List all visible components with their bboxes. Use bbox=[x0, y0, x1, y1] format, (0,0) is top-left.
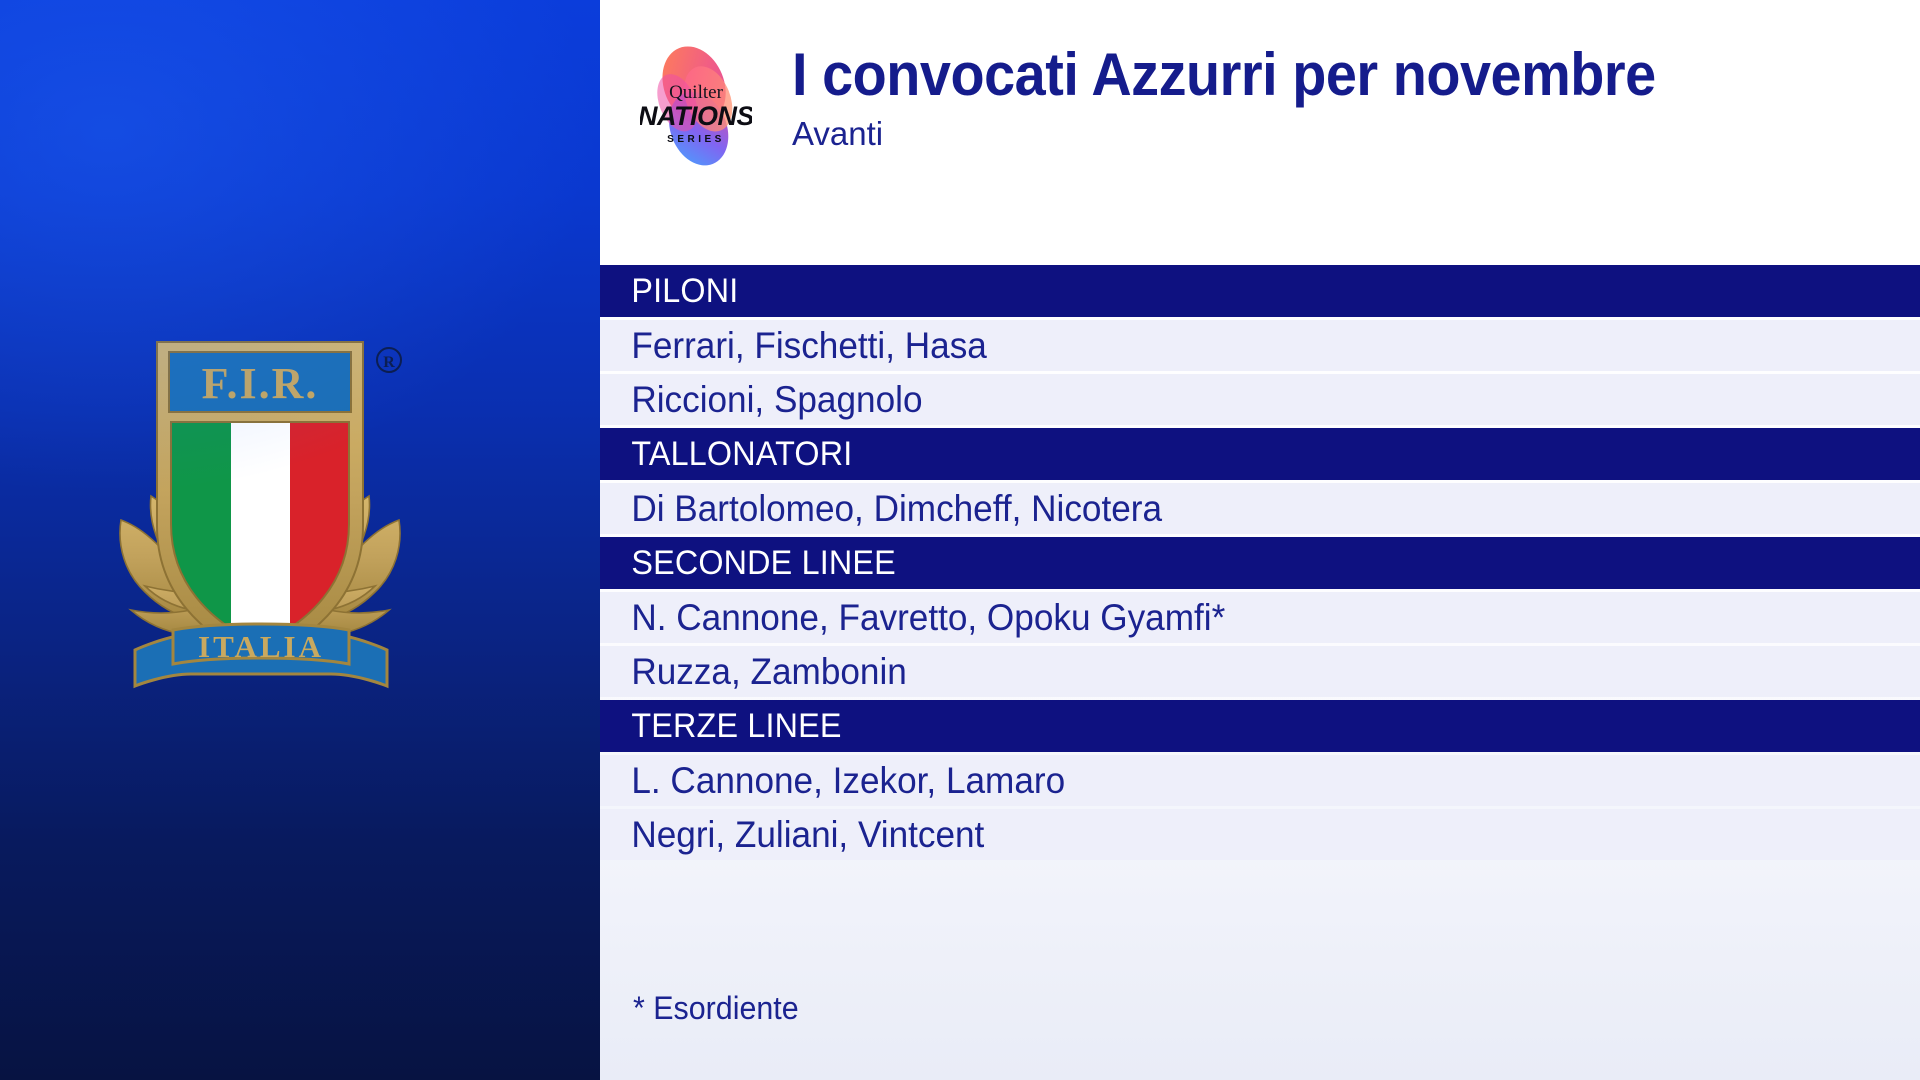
footnote-debutant: * Esordiente bbox=[633, 990, 799, 1026]
fir-italia-crest: F.I.R. ITALIA R bbox=[95, 330, 425, 710]
logo-nations-text: NATIONS bbox=[640, 101, 752, 131]
player-list-row: N. Cannone, Favretto, Opoku Gyamfi* bbox=[600, 592, 1920, 643]
position-group-label: TALLONATORI bbox=[600, 435, 852, 473]
page-subtitle: Avanti bbox=[792, 114, 1892, 154]
squad-table: PILONIFerrari, Fischetti, HasaRiccioni, … bbox=[600, 265, 1920, 863]
registered-trademark-icon: R bbox=[377, 348, 401, 372]
logo-series-text: SERIES bbox=[667, 134, 725, 145]
header: Quilter NATIONS SERIES I convocati Azzur… bbox=[600, 0, 1920, 265]
player-names: N. Cannone, Favretto, Opoku Gyamfi* bbox=[600, 597, 1225, 639]
quilter-nations-logo-icon: Quilter NATIONS SERIES bbox=[640, 42, 752, 170]
left-brand-panel: F.I.R. ITALIA R bbox=[0, 0, 600, 1080]
position-group-label: SECONDE LINEE bbox=[600, 544, 896, 582]
page-title: I convocati Azzurri per novembre bbox=[792, 42, 1815, 108]
player-names: L. Cannone, Izekor, Lamaro bbox=[600, 760, 1065, 802]
position-group-header: TALLONATORI bbox=[600, 428, 1920, 480]
player-names: Ruzza, Zambonin bbox=[600, 651, 907, 693]
player-list-row: Di Bartolomeo, Dimcheff, Nicotera bbox=[600, 483, 1920, 534]
quilter-nations-series-logo: Quilter NATIONS SERIES bbox=[640, 42, 752, 170]
player-names: Riccioni, Spagnolo bbox=[600, 379, 922, 421]
player-list-row: Riccioni, Spagnolo bbox=[600, 374, 1920, 425]
position-group-header: PILONI bbox=[600, 265, 1920, 317]
logo-quilter-text: Quilter bbox=[669, 82, 723, 103]
player-list-row: Negri, Zuliani, Vintcent bbox=[600, 809, 1920, 860]
player-list-row: Ferrari, Fischetti, Hasa bbox=[600, 320, 1920, 371]
position-group-label: PILONI bbox=[600, 272, 738, 310]
right-content-panel: Quilter NATIONS SERIES I convocati Azzur… bbox=[600, 0, 1920, 1080]
player-names: Di Bartolomeo, Dimcheff, Nicotera bbox=[600, 488, 1162, 530]
crest-fir-text: F.I.R. bbox=[202, 359, 319, 408]
player-list-row: Ruzza, Zambonin bbox=[600, 646, 1920, 697]
player-names: Negri, Zuliani, Vintcent bbox=[600, 814, 984, 856]
fir-crest-icon: F.I.R. ITALIA R bbox=[95, 330, 425, 710]
graphic-root: F.I.R. ITALIA R bbox=[0, 0, 1920, 1080]
crest-italia-text: ITALIA bbox=[198, 629, 324, 664]
position-group-header: SECONDE LINEE bbox=[600, 537, 1920, 589]
player-list-row: L. Cannone, Izekor, Lamaro bbox=[600, 755, 1920, 806]
position-group-label: TERZE LINEE bbox=[600, 707, 842, 745]
title-block: I convocati Azzurri per novembre Avanti bbox=[792, 42, 1892, 154]
player-names: Ferrari, Fischetti, Hasa bbox=[600, 325, 987, 367]
svg-text:R: R bbox=[383, 354, 395, 371]
position-group-header: TERZE LINEE bbox=[600, 700, 1920, 752]
